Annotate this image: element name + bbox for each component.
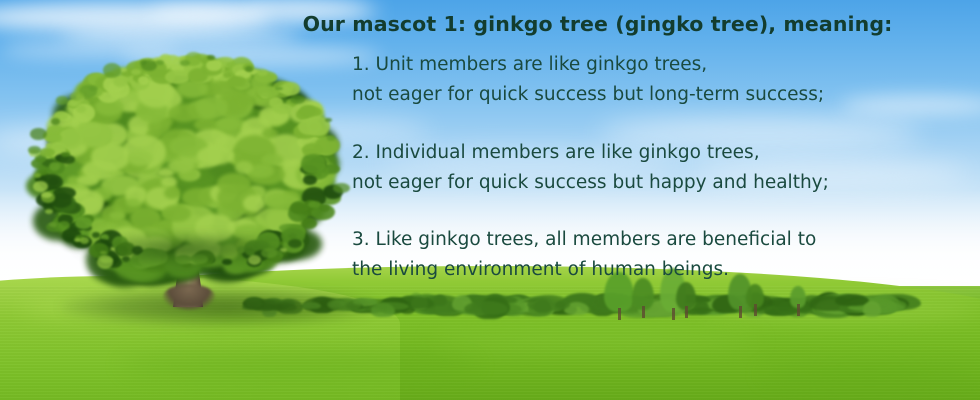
foliage-cluster xyxy=(140,60,147,65)
paragraph-2-line-2: not eager for quick success but happy an… xyxy=(352,168,829,198)
foliage-cluster xyxy=(243,195,265,212)
foliage-cluster xyxy=(168,159,194,173)
page-title: Our mascot 1: ginkgo tree (gingko tree),… xyxy=(283,12,912,36)
mascot-banner: Our mascot 1: ginkgo tree (gingko tree),… xyxy=(0,0,980,400)
foliage-cluster xyxy=(61,152,69,156)
foliage-cluster xyxy=(196,96,228,119)
foliage-cluster xyxy=(162,205,190,223)
foliage-cluster xyxy=(197,146,234,165)
foliage-cluster xyxy=(327,135,335,141)
foliage-cluster xyxy=(51,118,60,125)
foliage-cluster xyxy=(45,209,52,214)
foliage-cluster xyxy=(126,198,140,207)
foliage-cluster xyxy=(33,181,48,192)
foliage-cluster xyxy=(58,221,69,231)
foliage-cluster xyxy=(207,55,215,61)
foliage-cluster xyxy=(138,76,149,85)
foliage-cluster xyxy=(165,70,190,84)
foliage-cluster xyxy=(56,96,67,104)
foliage-cluster xyxy=(216,118,240,130)
paragraph-3-line-1: 3. Like ginkgo trees, all members are be… xyxy=(352,225,816,255)
foliage-cluster xyxy=(131,69,141,75)
paragraph-1-line-2: not eager for quick success but long-ter… xyxy=(352,80,824,110)
paragraph-point-1: 1. Unit members are like ginkgo trees, n… xyxy=(352,50,824,110)
foliage-cluster xyxy=(72,232,302,266)
paragraph-point-2: 2. Individual members are like ginkgo tr… xyxy=(352,138,829,198)
foliage-cluster xyxy=(333,183,350,193)
foliage-cluster xyxy=(269,97,283,108)
paragraph-3-line-2: the living environment of human beings. xyxy=(352,255,816,285)
foliage-cluster xyxy=(34,173,40,178)
paragraph-1-line-1: 1. Unit members are like ginkgo trees, xyxy=(352,50,824,80)
foliage-cluster xyxy=(325,118,331,123)
foliage-cluster xyxy=(74,238,81,242)
foliage-cluster xyxy=(301,154,326,174)
paragraph-2-line-1: 2. Individual members are like ginkgo tr… xyxy=(352,138,829,168)
foliage-cluster xyxy=(109,211,125,220)
foliage-cluster xyxy=(70,92,84,102)
foliage-cluster xyxy=(49,162,60,171)
foliage-cluster xyxy=(41,192,52,198)
foliage-cluster xyxy=(39,148,55,157)
foliage-cluster xyxy=(103,63,121,78)
foliage-cluster xyxy=(92,232,100,237)
foliage-cluster xyxy=(28,146,41,154)
foliage-cluster xyxy=(30,128,47,141)
foliage-cluster xyxy=(180,60,189,66)
foliage-cluster xyxy=(302,218,317,229)
foliage-cluster xyxy=(76,105,87,112)
foliage-cluster xyxy=(319,204,330,212)
paragraph-point-3: 3. Like ginkgo trees, all members are be… xyxy=(352,225,816,285)
